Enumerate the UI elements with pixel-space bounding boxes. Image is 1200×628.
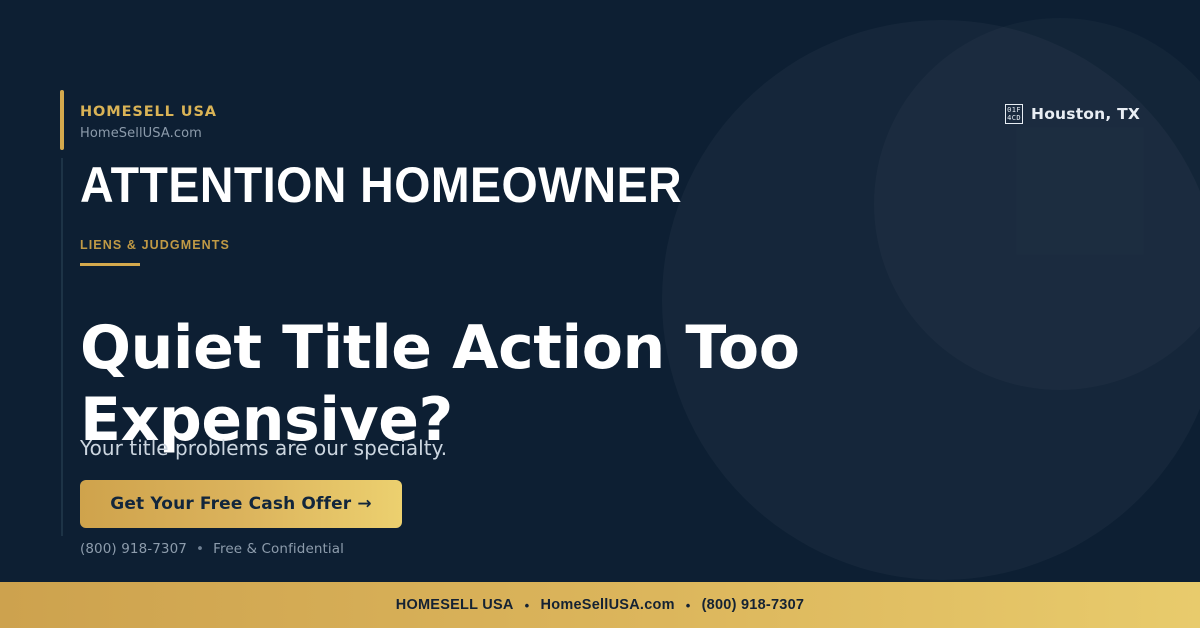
category-kicker-label: LIENS & JUDGMENTS: [80, 238, 230, 253]
footer-website[interactable]: HomeSellUSA.com: [540, 597, 674, 613]
brand-name: HOMESELL USA: [80, 104, 217, 121]
footer-separator-2: •: [686, 598, 691, 613]
cta-button[interactable]: Get Your Free Cash Offer →: [80, 480, 402, 528]
contact-line: (800) 918-7307 • Free & Confidential: [80, 541, 344, 557]
category-kicker: LIENS & JUDGMENTS: [80, 238, 230, 266]
footer-separator-1: •: [525, 598, 530, 613]
promo-banner: HOMESELL USA HomeSellUSA.com 01F 4CD Hou…: [0, 0, 1200, 628]
map-pin-icon: 01F 4CD: [1005, 104, 1023, 124]
subheadline: Your title problems are our specialty.: [80, 436, 447, 460]
brand-website: HomeSellUSA.com: [80, 126, 217, 142]
footer-phone[interactable]: (800) 918-7307: [702, 597, 805, 613]
location-badge: 01F 4CD Houston, TX: [1005, 104, 1140, 124]
banner-content: HOMESELL USA HomeSellUSA.com 01F 4CD Hou…: [0, 0, 1200, 580]
page-title: Quiet Title Action Too Expensive?: [80, 312, 880, 456]
brand-block: HOMESELL USA HomeSellUSA.com: [80, 104, 217, 142]
footer-brand: HOMESELL USA: [396, 597, 514, 613]
kicker-underline: [80, 263, 140, 266]
footer-bar: HOMESELL USA • HomeSellUSA.com • (800) 9…: [0, 582, 1200, 628]
contact-separator: •: [196, 541, 204, 557]
location-label: Houston, TX: [1031, 105, 1140, 123]
attention-headline: ATTENTION HOMEOWNER: [80, 160, 682, 210]
footer-content: HOMESELL USA • HomeSellUSA.com • (800) 9…: [396, 597, 805, 613]
contact-phone[interactable]: (800) 918-7307: [80, 541, 187, 557]
contact-assurance: Free & Confidential: [213, 541, 344, 557]
